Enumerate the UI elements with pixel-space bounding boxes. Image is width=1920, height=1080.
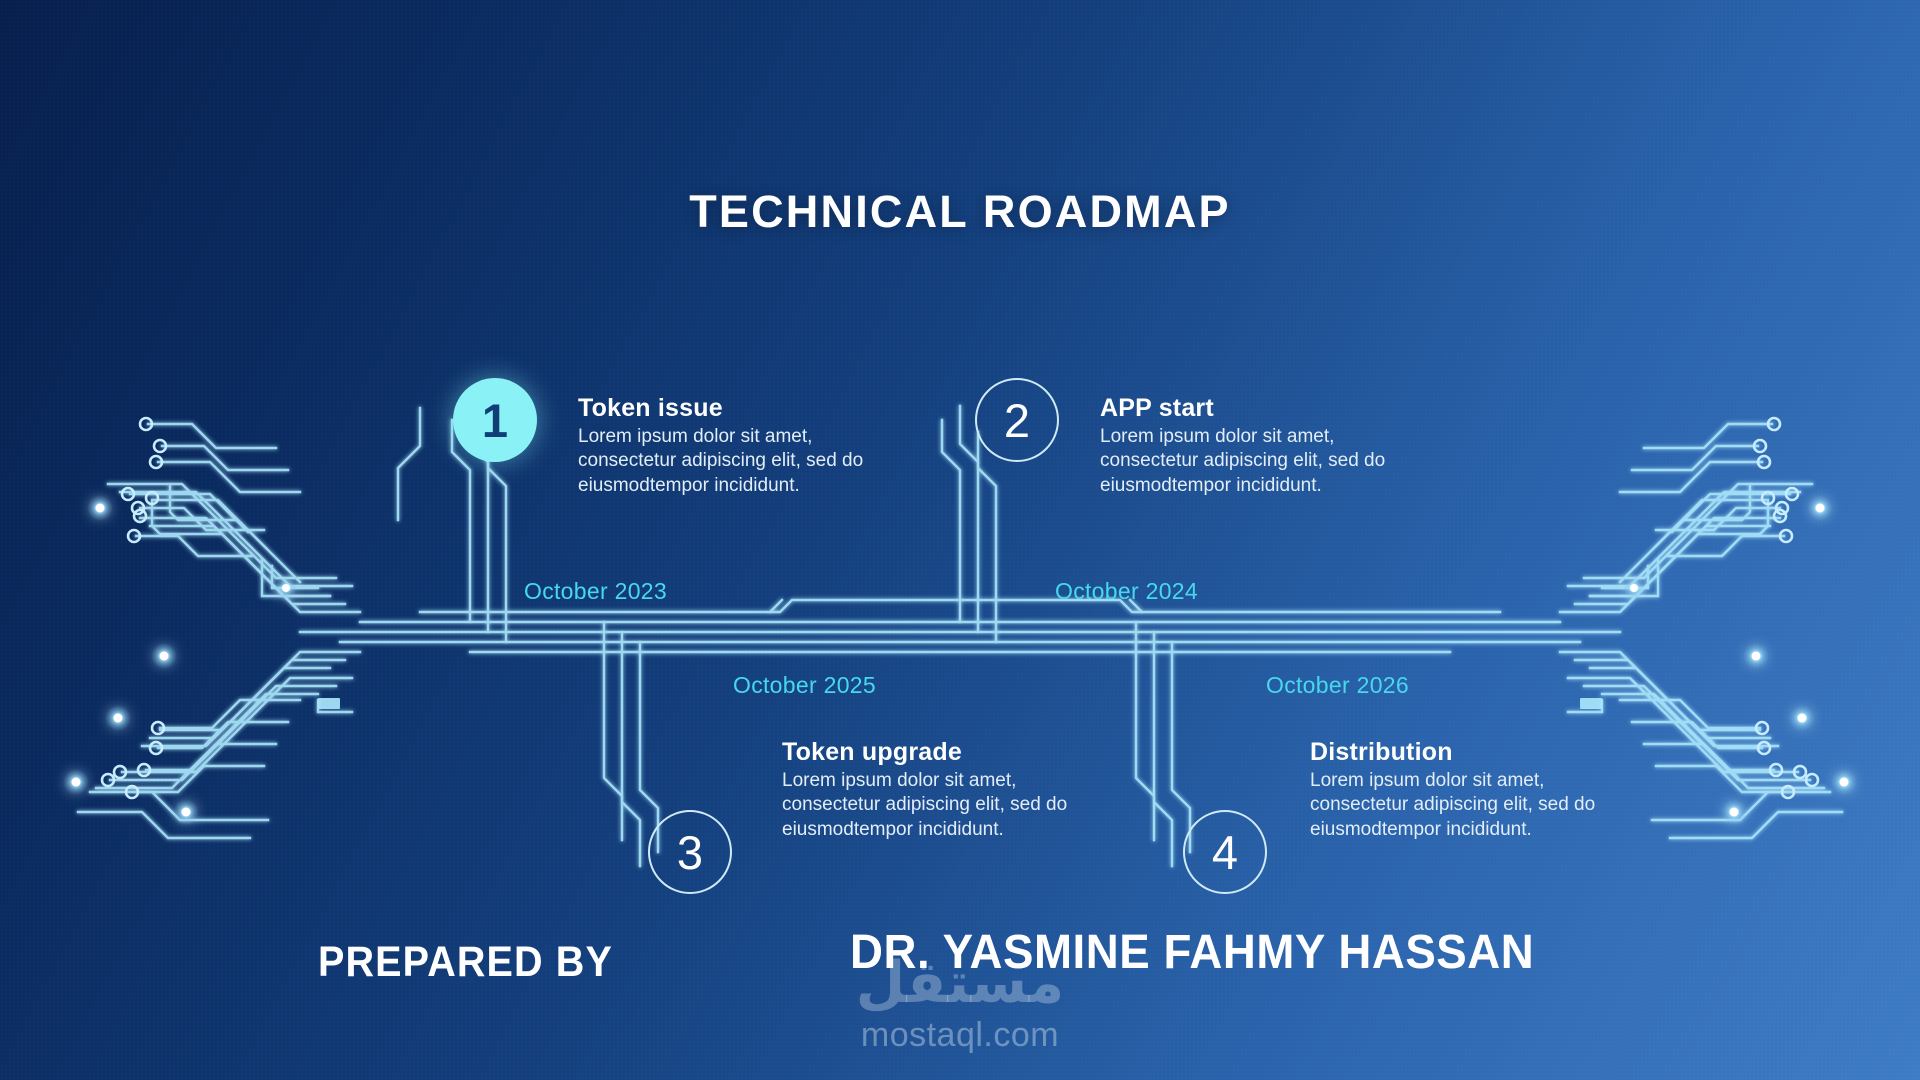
milestone-1-date: October 2023: [524, 578, 667, 605]
milestone-1-description: Lorem ipsum dolor sit amet, consectetur …: [578, 425, 908, 498]
milestone-1-number-badge[interactable]: 1: [453, 378, 537, 462]
milestone-3-number-badge[interactable]: 3: [648, 810, 732, 894]
circuit-board-graphic: [0, 0, 1920, 1080]
prepared-by-label: PREPARED BY: [318, 938, 613, 987]
milestone-3-description: Lorem ipsum dolor sit amet, consectetur …: [782, 769, 1112, 842]
author-name: DR. YASMINE FAHMY HASSAN: [850, 925, 1534, 980]
roadmap-canvas: TECHNICAL ROADMAP 1 Token issue Lorem ip…: [0, 0, 1920, 1080]
milestone-4-number-badge[interactable]: 4: [1183, 810, 1267, 894]
milestone-2-date: October 2024: [1055, 578, 1198, 605]
page-title: TECHNICAL ROADMAP: [0, 186, 1920, 238]
milestone-3-date: October 2025: [733, 672, 876, 699]
milestone-2-number-badge[interactable]: 2: [975, 378, 1059, 462]
milestone-4-title: Distribution: [1310, 738, 1640, 767]
milestone-1-title: Token issue: [578, 394, 908, 423]
milestone-2-description: Lorem ipsum dolor sit amet, consectetur …: [1100, 425, 1430, 498]
milestone-4-description: Lorem ipsum dolor sit amet, consectetur …: [1310, 769, 1640, 842]
circuit-chip-pads: [318, 698, 1602, 709]
milestone-4-date: October 2026: [1266, 672, 1409, 699]
milestone-2-title: APP start: [1100, 394, 1430, 423]
milestone-3-title: Token upgrade: [782, 738, 1112, 767]
